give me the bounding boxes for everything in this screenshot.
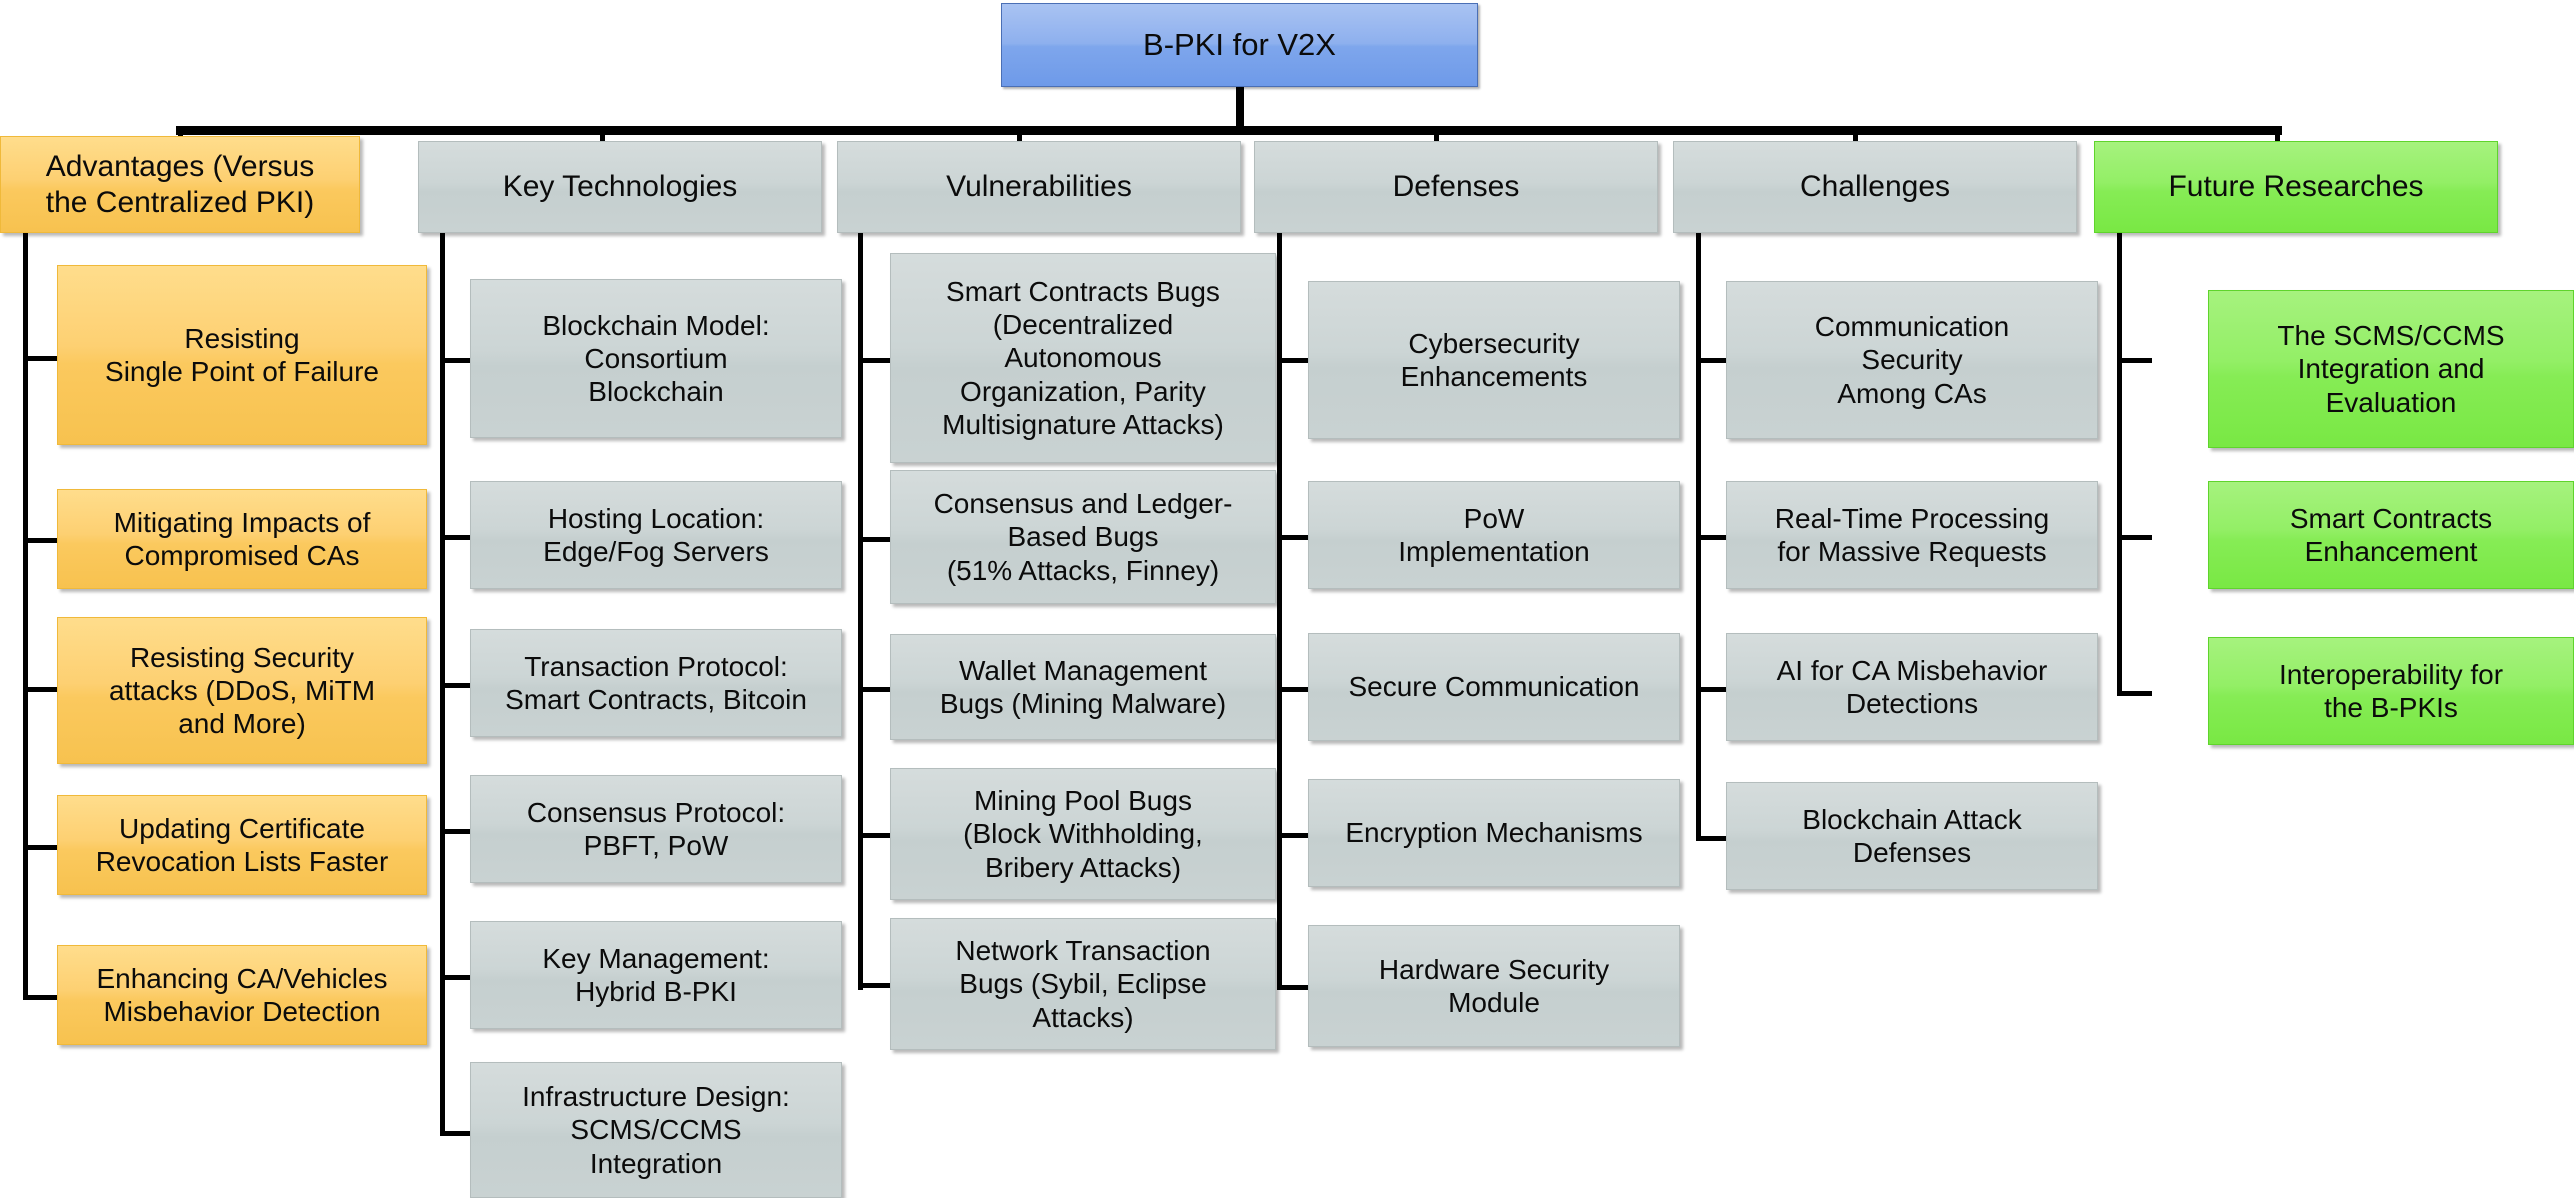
connector-stub-future-researches-0 bbox=[2117, 358, 2152, 363]
leaf-defenses-0[interactable]: Cybersecurity Enhancements bbox=[1308, 281, 1680, 439]
connector-stub-vulnerabilities-0 bbox=[858, 358, 893, 363]
leaf-challenges-3[interactable]: Blockchain Attack Defenses bbox=[1726, 782, 2098, 890]
branch-header-challenges[interactable]: Challenges bbox=[1673, 141, 2077, 233]
leaf-advantages-4[interactable]: Enhancing CA/Vehicles Misbehavior Detect… bbox=[57, 945, 427, 1045]
leaf-key-technologies-2[interactable]: Transaction Protocol: Smart Contracts, B… bbox=[470, 629, 842, 737]
branch-header-vulnerabilities[interactable]: Vulnerabilities bbox=[837, 141, 1241, 233]
branch-header-advantages[interactable]: Advantages (Versus the Centralized PKI) bbox=[0, 136, 360, 233]
leaf-key-technologies-0[interactable]: Blockchain Model: Consortium Blockchain bbox=[470, 279, 842, 438]
connector-stub-defenses-3 bbox=[1277, 833, 1312, 838]
leaf-future-researches-2[interactable]: Interoperability for the B-PKIs bbox=[2208, 637, 2574, 745]
connector-stub-vulnerabilities-1 bbox=[858, 537, 893, 542]
leaf-advantages-2[interactable]: Resisting Security attacks (DDoS, MiTM a… bbox=[57, 617, 427, 764]
branch-header-key-technologies[interactable]: Key Technologies bbox=[418, 141, 822, 233]
leaf-vulnerabilities-3[interactable]: Mining Pool Bugs (Block Withholding, Bri… bbox=[890, 768, 1276, 900]
branch-header-defenses[interactable]: Defenses bbox=[1254, 141, 1658, 233]
leaf-defenses-1[interactable]: PoW Implementation bbox=[1308, 481, 1680, 589]
connector-trunk-vulnerabilities bbox=[858, 233, 863, 990]
leaf-key-technologies-1[interactable]: Hosting Location: Edge/Fog Servers bbox=[470, 481, 842, 589]
leaf-key-technologies-5[interactable]: Infrastructure Design: SCMS/CCMS Integra… bbox=[470, 1062, 842, 1198]
diagram-canvas: B-PKI for V2X Advantages (Versus the Cen… bbox=[0, 0, 2574, 1198]
leaf-vulnerabilities-1[interactable]: Consensus and Ledger- Based Bugs (51% At… bbox=[890, 470, 1276, 604]
leaf-future-researches-0[interactable]: The SCMS/CCMS Integration and Evaluation bbox=[2208, 290, 2574, 448]
leaf-challenges-0[interactable]: Communication Security Among CAs bbox=[1726, 281, 2098, 439]
leaf-defenses-4[interactable]: Hardware Security Module bbox=[1308, 925, 1680, 1047]
leaf-advantages-3[interactable]: Updating Certificate Revocation Lists Fa… bbox=[57, 795, 427, 895]
leaf-vulnerabilities-4[interactable]: Network Transaction Bugs (Sybil, Eclipse… bbox=[890, 918, 1276, 1050]
leaf-challenges-2[interactable]: AI for CA Misbehavior Detections bbox=[1726, 633, 2098, 741]
connector-stub-defenses-1 bbox=[1277, 535, 1312, 540]
connector-stub-future-researches-2 bbox=[2117, 691, 2152, 696]
connector-stub-defenses-4 bbox=[1277, 985, 1312, 990]
connector-stub-future-researches-1 bbox=[2117, 535, 2152, 540]
connector-trunk-future-researches bbox=[2117, 233, 2122, 696]
branch-header-future-researches[interactable]: Future Researches bbox=[2094, 141, 2498, 233]
connector-stub-defenses-0 bbox=[1277, 358, 1312, 363]
connector-stub-vulnerabilities-4 bbox=[858, 983, 893, 988]
leaf-challenges-1[interactable]: Real-Time Processing for Massive Request… bbox=[1726, 481, 2098, 589]
connector-trunk-advantages bbox=[23, 233, 28, 1000]
connector-stub-vulnerabilities-2 bbox=[858, 687, 893, 692]
connector-root-bus bbox=[176, 126, 2282, 135]
leaf-key-technologies-3[interactable]: Consensus Protocol: PBFT, PoW bbox=[470, 775, 842, 883]
connector-stub-vulnerabilities-3 bbox=[858, 833, 893, 838]
leaf-advantages-0[interactable]: Resisting Single Point of Failure bbox=[57, 265, 427, 445]
connector-root-stem bbox=[1236, 86, 1244, 130]
leaf-advantages-1[interactable]: Mitigating Impacts of Compromised CAs bbox=[57, 489, 427, 589]
leaf-key-technologies-4[interactable]: Key Management: Hybrid B-PKI bbox=[470, 921, 842, 1029]
root-node-b-pki-for-v2x[interactable]: B-PKI for V2X bbox=[1001, 3, 1478, 87]
connector-stub-defenses-2 bbox=[1277, 687, 1312, 692]
leaf-vulnerabilities-2[interactable]: Wallet Management Bugs (Mining Malware) bbox=[890, 634, 1276, 740]
leaf-vulnerabilities-0[interactable]: Smart Contracts Bugs (Decentralized Auto… bbox=[890, 253, 1276, 463]
leaf-defenses-2[interactable]: Secure Communication bbox=[1308, 633, 1680, 741]
connector-trunk-defenses bbox=[1277, 233, 1282, 990]
leaf-defenses-3[interactable]: Encryption Mechanisms bbox=[1308, 779, 1680, 887]
leaf-future-researches-1[interactable]: Smart Contracts Enhancement bbox=[2208, 481, 2574, 589]
